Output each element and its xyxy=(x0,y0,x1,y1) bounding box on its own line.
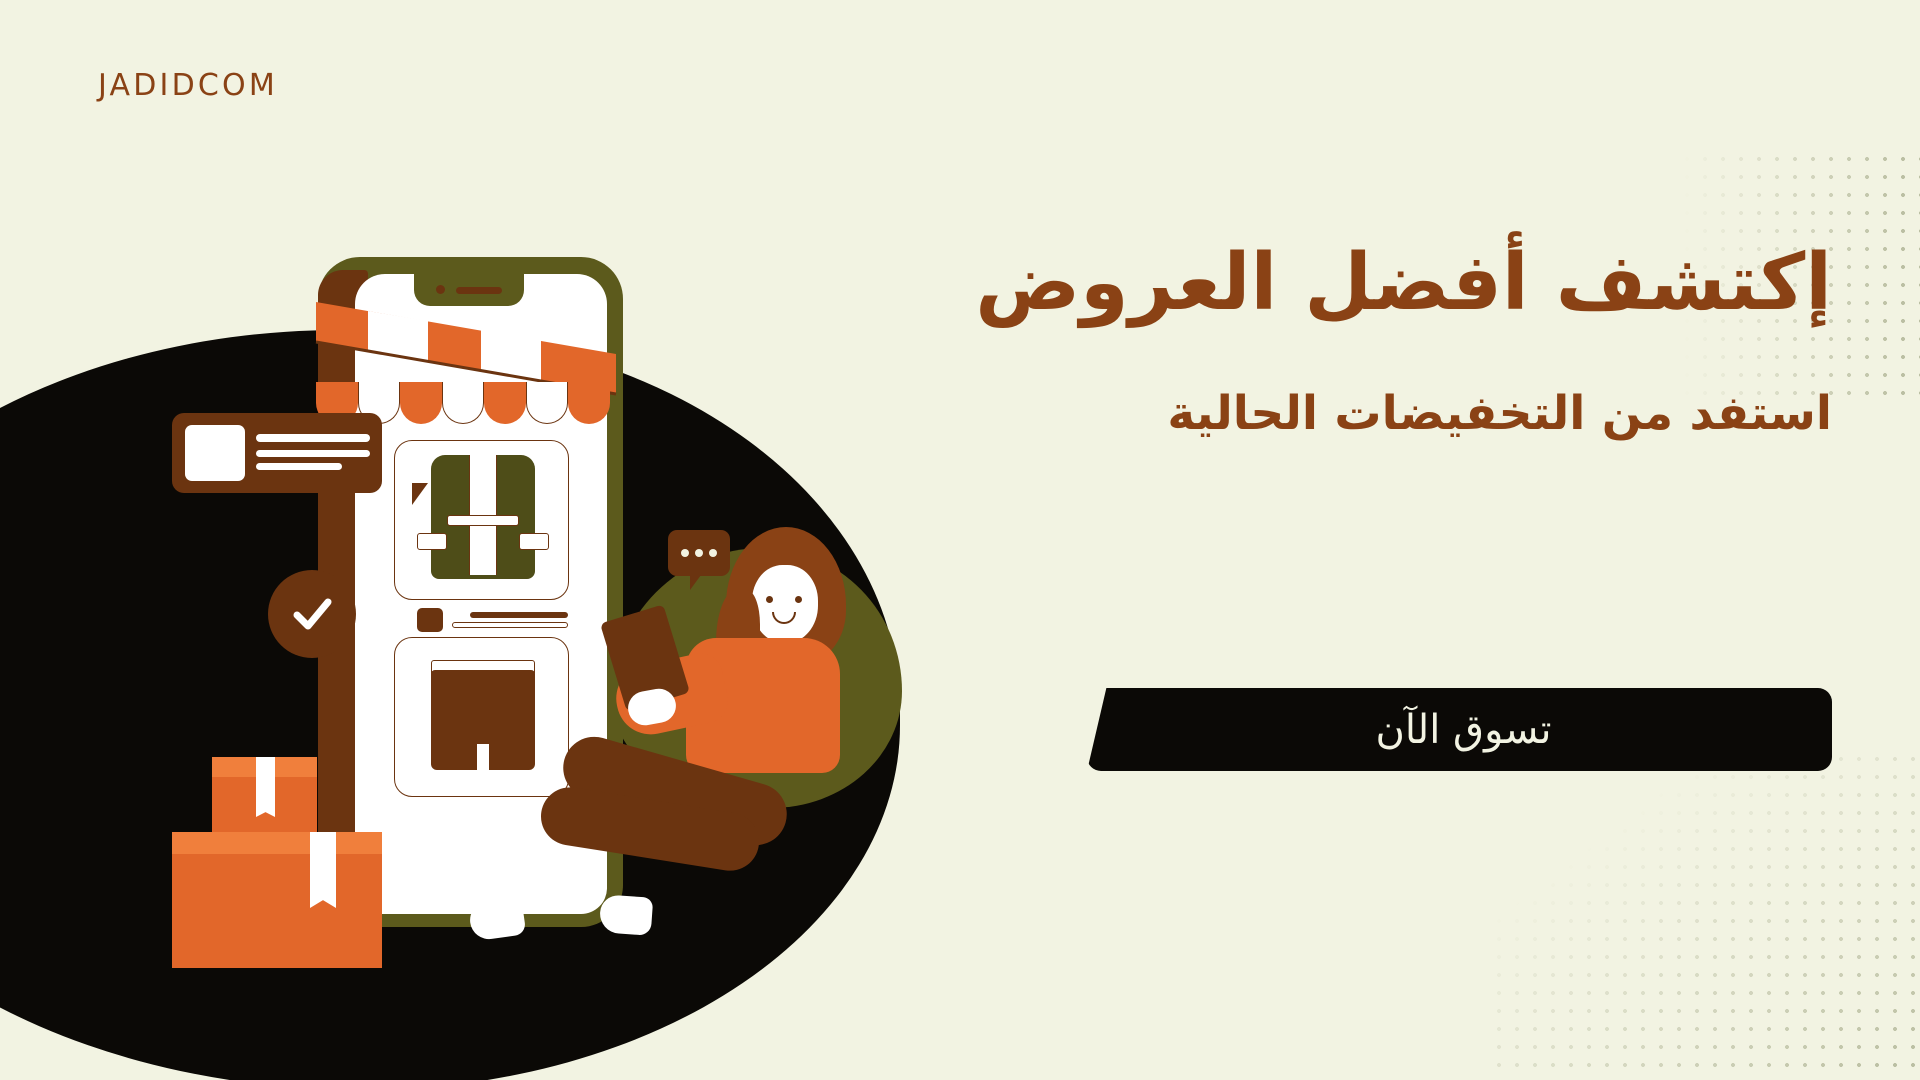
product-meta-line-2 xyxy=(452,622,568,628)
bathrobe-cuff-left xyxy=(417,533,447,550)
awning-scallop xyxy=(526,382,568,424)
product-card-bathrobe[interactable] xyxy=(394,440,569,600)
product-meta-line-1 xyxy=(470,612,568,618)
notification-text-line xyxy=(256,450,370,457)
awning-scallop xyxy=(568,382,610,424)
parcel-box-large-lid xyxy=(172,832,382,854)
parcel-box-large xyxy=(172,848,382,968)
notification-text-line xyxy=(256,434,370,442)
phone-speaker-bar xyxy=(456,287,502,294)
copy-block: إكتشف أفضل العروض استفد من التخفيضات الح… xyxy=(822,236,1832,444)
page-title: إكتشف أفضل العروض xyxy=(822,236,1832,331)
shop-awning xyxy=(316,302,616,394)
shop-now-button-label: تسوق الآن xyxy=(1367,707,1551,753)
awning-scallop xyxy=(484,382,526,424)
halftone-dots-bottom-right xyxy=(1490,750,1920,1080)
chat-dot-icon xyxy=(695,549,703,557)
character-eye xyxy=(766,596,773,603)
shop-now-button[interactable]: تسوق الآن xyxy=(1087,688,1832,771)
notification-thumbnail xyxy=(185,425,245,481)
product-meta-square xyxy=(417,608,443,632)
character-face xyxy=(752,565,818,643)
awning-scallop xyxy=(442,382,484,424)
product-card-shorts[interactable] xyxy=(394,637,569,797)
bathrobe-cuff-right xyxy=(519,533,549,550)
chat-dot-icon xyxy=(709,549,717,557)
promotional-banner: JADIDCOM xyxy=(0,0,1920,1080)
phone-camera-dot-icon xyxy=(436,285,445,294)
character-eye xyxy=(795,596,802,603)
chat-dot-icon xyxy=(681,549,689,557)
check-icon xyxy=(290,592,334,636)
brand-logo[interactable]: JADIDCOM xyxy=(98,68,278,103)
chat-bubble-tail xyxy=(690,575,701,590)
awning-scallop xyxy=(400,382,442,424)
notification-card-tail xyxy=(412,483,428,505)
notification-text-line xyxy=(256,463,342,470)
bathrobe-belt xyxy=(447,515,519,526)
page-subtitle: استفد من التخفيضات الحالية xyxy=(822,383,1832,444)
shorts-leg-gap xyxy=(477,744,489,772)
